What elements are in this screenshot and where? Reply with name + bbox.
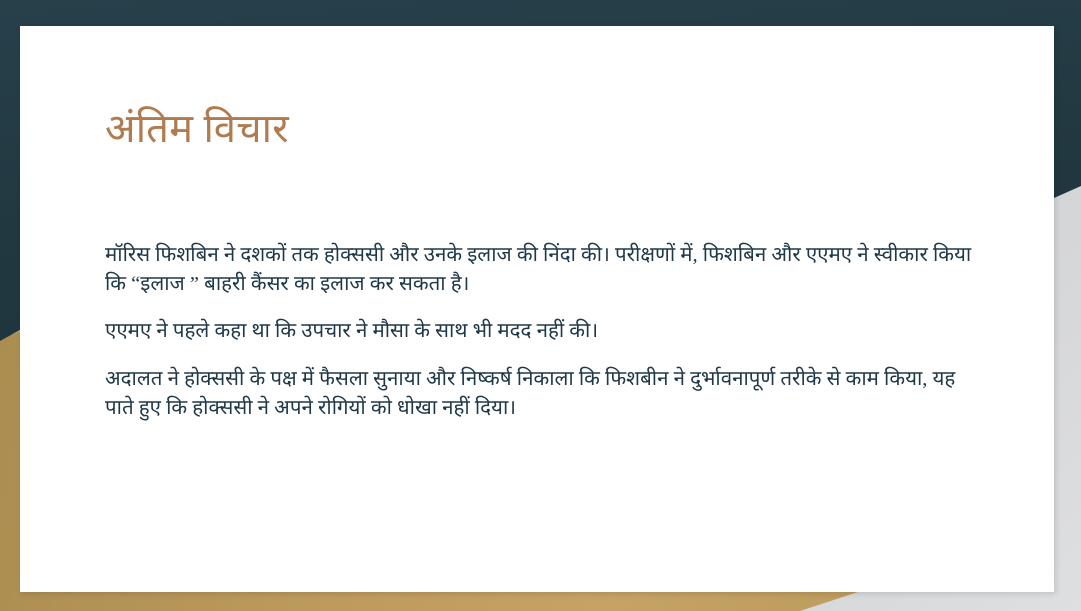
slide-root: अंतिम विचार मॉरिस फिशबिन ने दशकों तक होक… [0, 0, 1081, 611]
slide-title: अंतिम विचार [105, 104, 965, 154]
body-paragraph-2: एएमए ने पहले कहा था कि उपचार ने मौसा के … [105, 317, 987, 346]
slide-canvas: अंतिम विचार मॉरिस फिशबिन ने दशकों तक होक… [20, 26, 1054, 592]
slide-body: मॉरिस फिशबिन ने दशकों तक होक्ससी और उनके… [105, 241, 987, 424]
body-paragraph-1: मॉरिस फिशबिन ने दशकों तक होक्ससी और उनके… [105, 241, 987, 299]
body-paragraph-3: अदालत ने होक्ससी के पक्ष में फैसला सुनाय… [105, 365, 987, 423]
slide-content: अंतिम विचार मॉरिस फिशबिन ने दशकों तक होक… [20, 26, 1054, 592]
